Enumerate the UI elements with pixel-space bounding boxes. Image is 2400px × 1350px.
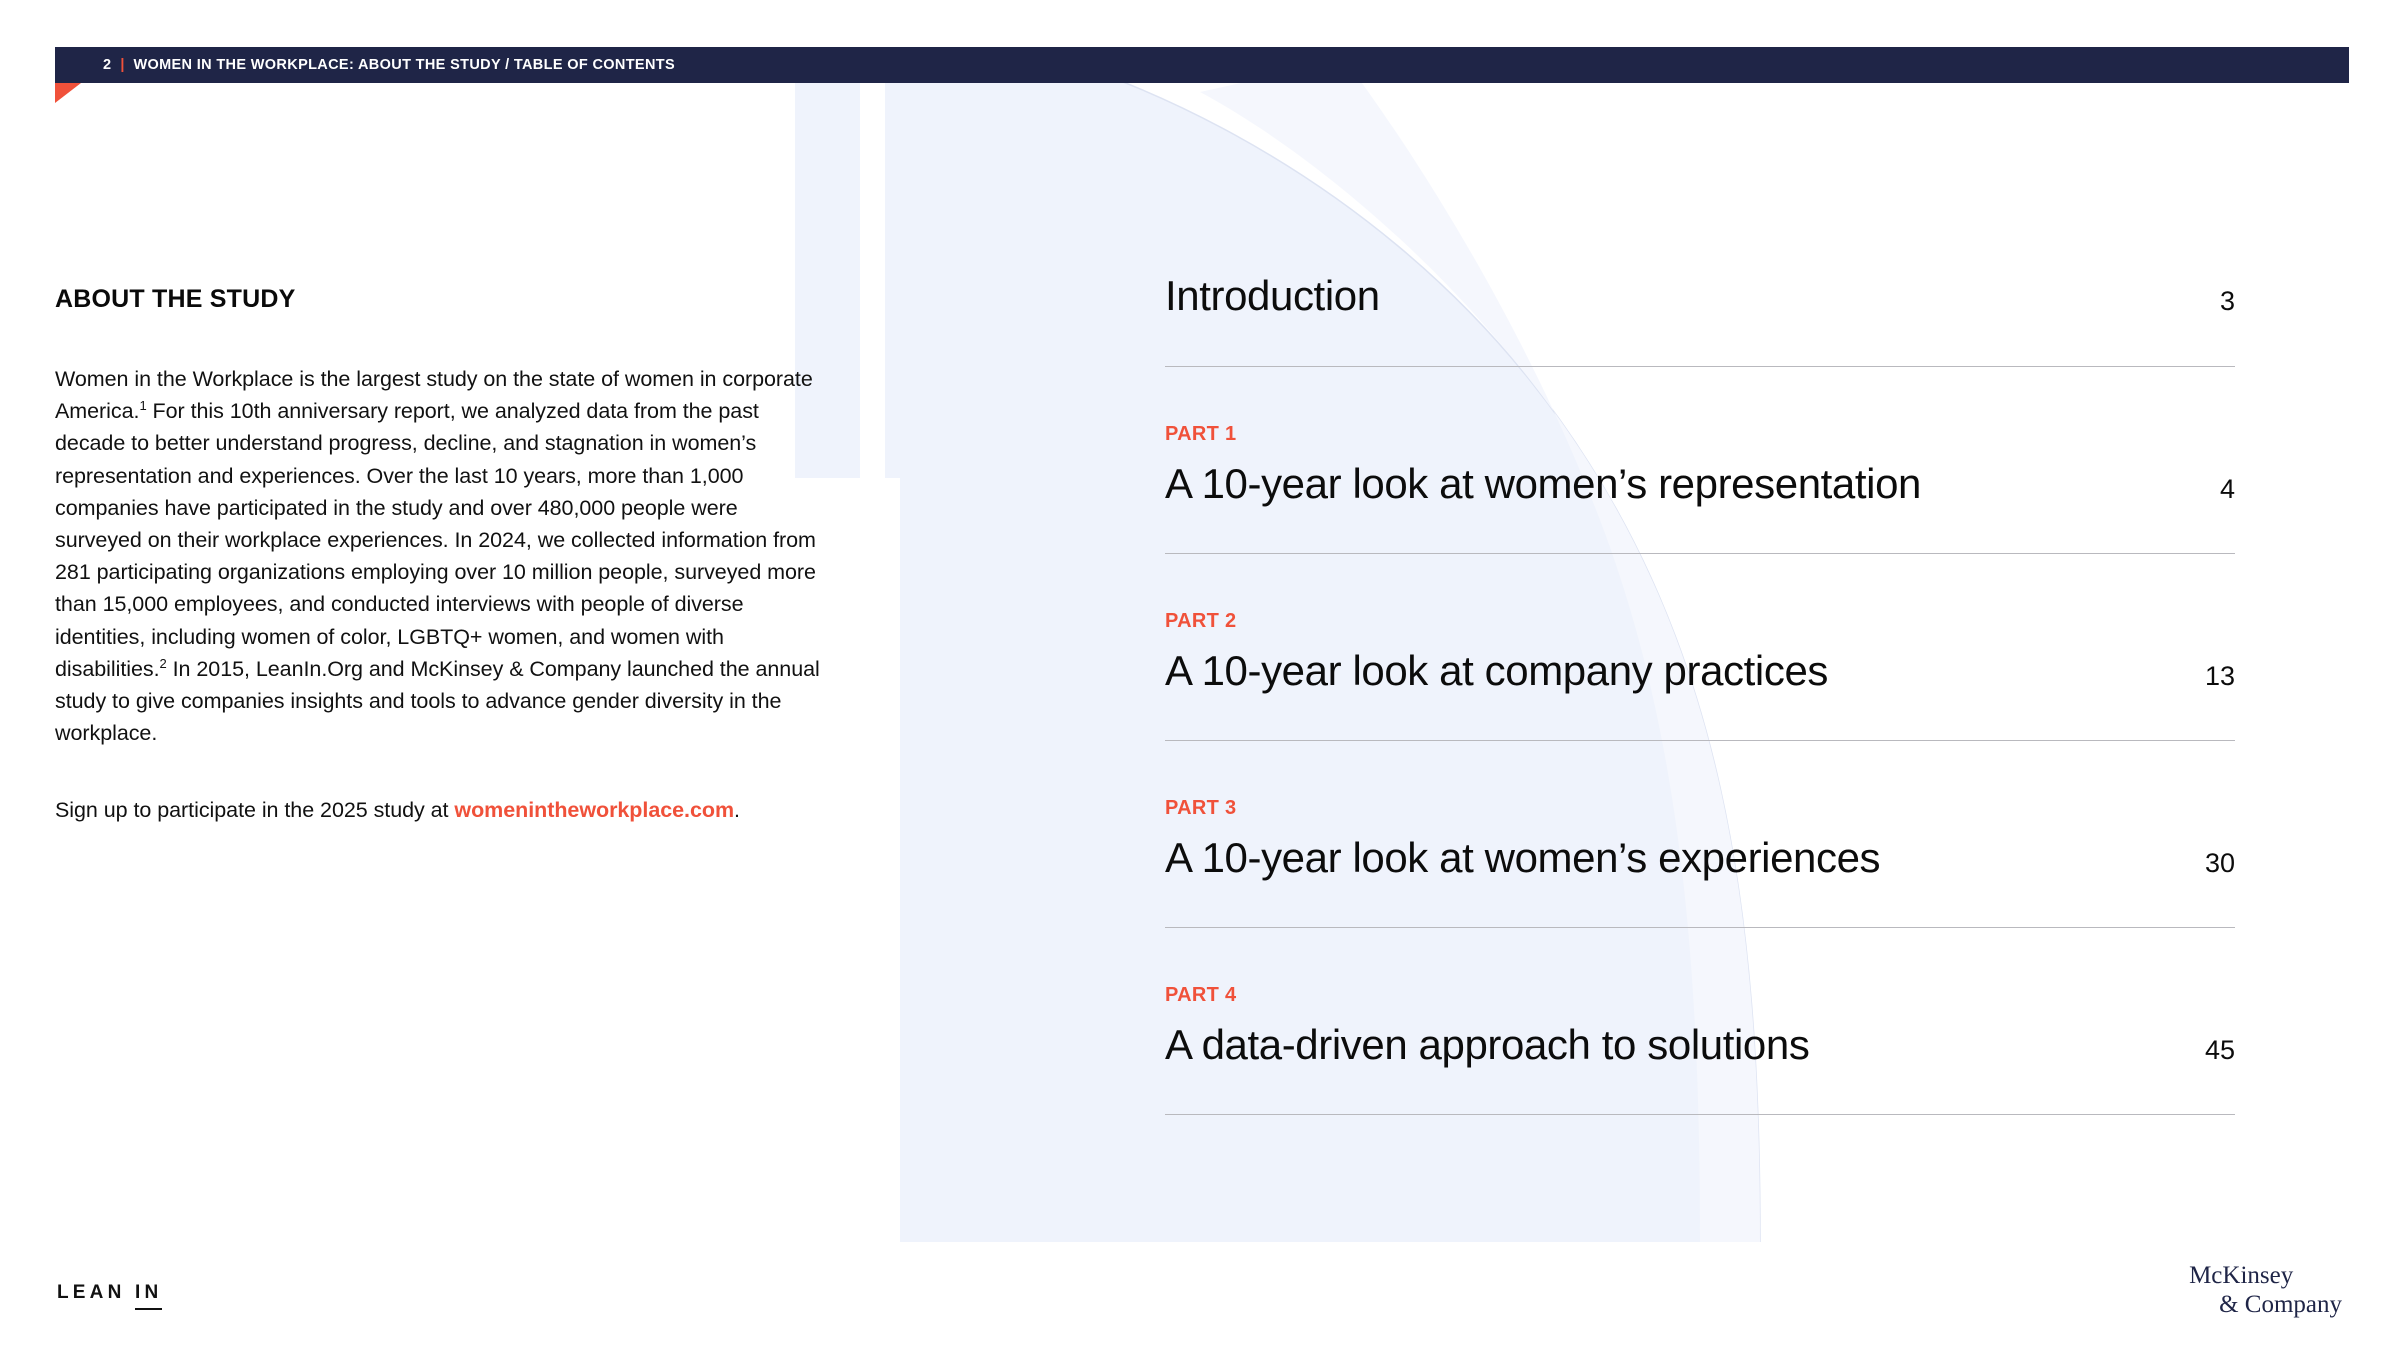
- toc-row: A data-driven approach to solutions 45: [1165, 1021, 2235, 1069]
- toc-entry-part-3[interactable]: PART 3 A 10-year look at women’s experie…: [1165, 797, 2235, 928]
- toc-title-introduction: Introduction: [1165, 272, 1380, 320]
- mckinsey-logo-line-1: McKinsey: [2189, 1262, 2342, 1291]
- toc-divider: [1165, 927, 2235, 928]
- table-of-contents: Introduction 3 PART 1 A 10-year look at …: [1165, 272, 2235, 1115]
- signup-suffix: .: [734, 798, 740, 822]
- signup-line: Sign up to participate in the 2025 study…: [55, 794, 835, 826]
- toc-part-label-1: PART 1: [1165, 423, 2235, 446]
- page-header-bar: 2 | WOMEN IN THE WORKPLACE: ABOUT THE ST…: [55, 47, 2349, 83]
- womenintheworkplace-link[interactable]: womenintheworkplace.com: [454, 798, 734, 822]
- about-body-part-2: For this 10th anniversary report, we ana…: [55, 399, 816, 681]
- toc-entry-part-4[interactable]: PART 4 A data-driven approach to solutio…: [1165, 984, 2235, 1115]
- toc-row: A 10-year look at company practices 13: [1165, 647, 2235, 695]
- about-body-paragraph: Women in the Workplace is the largest st…: [55, 363, 820, 749]
- mckinsey-logo-line-2: & Company: [2189, 1291, 2342, 1320]
- header-corner-triangle-icon: [55, 83, 81, 103]
- page-root: 2 | WOMEN IN THE WORKPLACE: ABOUT THE ST…: [0, 0, 2400, 1350]
- toc-part-label-4: PART 4: [1165, 984, 2235, 1007]
- toc-page-part-2: 13: [2205, 661, 2235, 692]
- mckinsey-logo: McKinsey & Company: [2189, 1262, 2342, 1320]
- toc-row: A 10-year look at women’s representation…: [1165, 460, 2235, 508]
- header-separator-icon: |: [120, 57, 124, 73]
- toc-page-introduction: 3: [2220, 286, 2235, 317]
- toc-divider: [1165, 740, 2235, 741]
- toc-divider: [1165, 1114, 2235, 1115]
- toc-entry-introduction[interactable]: Introduction 3: [1165, 272, 2235, 367]
- toc-part-label-3: PART 3: [1165, 797, 2235, 820]
- leanin-logo-lean: LEAN: [57, 1282, 126, 1303]
- footnote-marker-1: 1: [139, 398, 146, 413]
- leanin-logo: LEAN IN: [57, 1282, 162, 1304]
- toc-page-part-1: 4: [2220, 474, 2235, 505]
- toc-page-part-4: 45: [2205, 1035, 2235, 1066]
- about-heading: ABOUT THE STUDY: [55, 285, 835, 314]
- toc-divider: [1165, 366, 2235, 367]
- toc-entry-part-2[interactable]: PART 2 A 10-year look at company practic…: [1165, 610, 2235, 741]
- toc-part-label-2: PART 2: [1165, 610, 2235, 633]
- footnote-marker-2: 2: [160, 656, 167, 671]
- toc-title-part-3: A 10-year look at women’s experiences: [1165, 834, 1880, 882]
- about-the-study-section: ABOUT THE STUDY Women in the Workplace i…: [55, 285, 835, 827]
- toc-row: A 10-year look at women’s experiences 30: [1165, 834, 2235, 882]
- header-title: WOMEN IN THE WORKPLACE: ABOUT THE STUDY …: [133, 57, 675, 73]
- leanin-logo-in: IN: [135, 1282, 162, 1310]
- toc-title-part-1: A 10-year look at women’s representation: [1165, 460, 1921, 508]
- toc-divider: [1165, 553, 2235, 554]
- about-body-part-3: In 2015, LeanIn.Org and McKinsey & Compa…: [55, 657, 820, 745]
- toc-entry-part-1[interactable]: PART 1 A 10-year look at women’s represe…: [1165, 423, 2235, 554]
- signup-prefix: Sign up to participate in the 2025 study…: [55, 798, 454, 822]
- toc-title-part-4: A data-driven approach to solutions: [1165, 1021, 1809, 1069]
- toc-page-part-3: 30: [2205, 848, 2235, 879]
- header-page-number: 2: [103, 57, 111, 73]
- toc-title-part-2: A 10-year look at company practices: [1165, 647, 1828, 695]
- toc-row: Introduction 3: [1165, 272, 2235, 320]
